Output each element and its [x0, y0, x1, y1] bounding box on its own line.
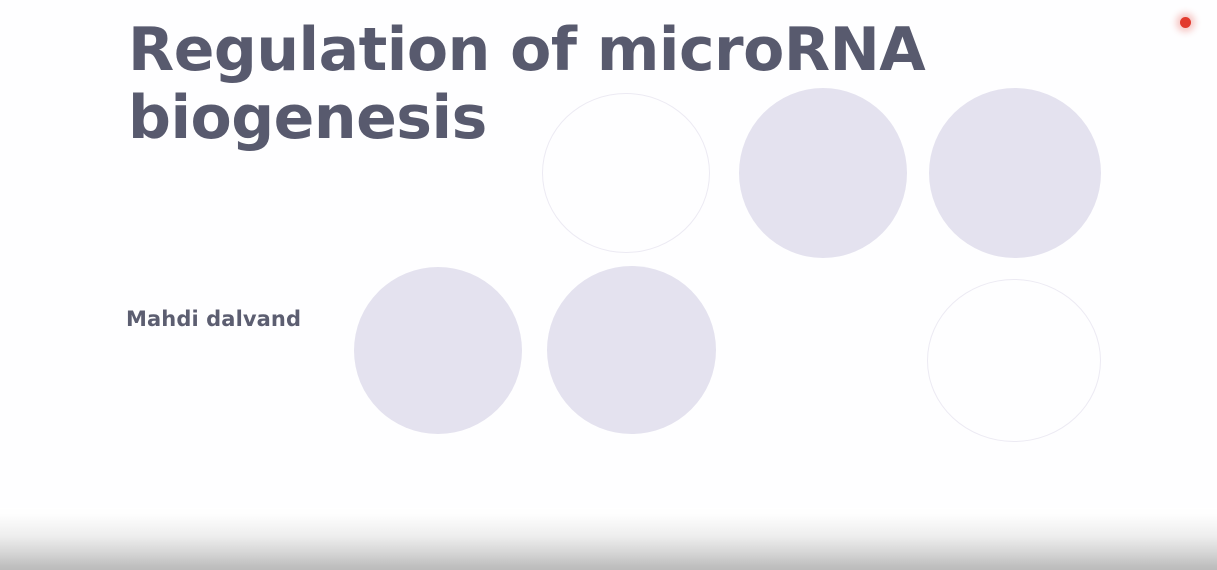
slide-title-line-1: Regulation of microRNA [128, 16, 1028, 84]
slide-title: Regulation of microRNA biogenesis [128, 16, 1028, 152]
recording-dot-icon [1180, 17, 1191, 28]
screen-capture: Regulation of microRNA biogenesis Mahdi … [0, 0, 1217, 570]
decorative-circle-bottom-2 [547, 266, 716, 434]
slide-author: Mahdi dalvand [126, 307, 301, 331]
decorative-circle-bottom-1 [354, 267, 522, 434]
slide-title-line-2: biogenesis [128, 84, 1028, 152]
bottom-gradient-bar [0, 508, 1217, 570]
decorative-circle-bottom-3 [927, 279, 1101, 442]
presentation-slide: Regulation of microRNA biogenesis Mahdi … [0, 0, 1217, 518]
